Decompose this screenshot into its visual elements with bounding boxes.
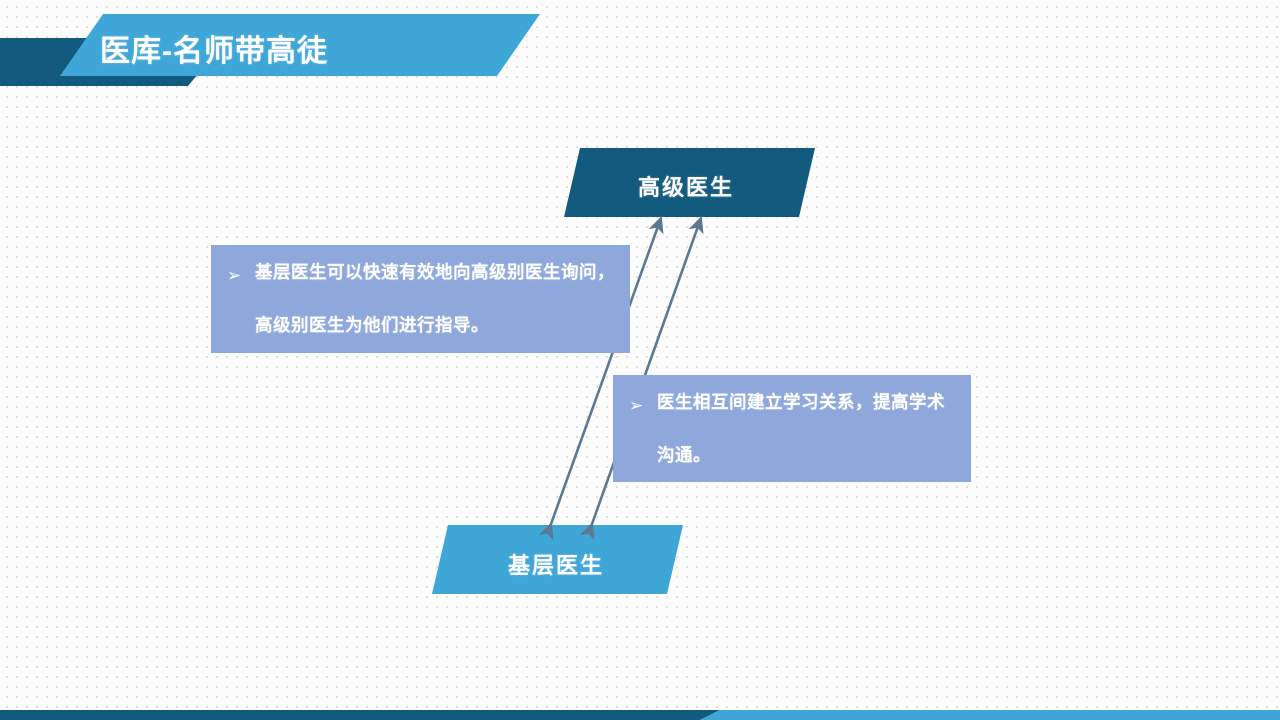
footer-right-bar (700, 710, 1280, 720)
slide-shapes-layer (0, 0, 1280, 720)
footer-left-bar (0, 710, 720, 720)
bullet-arrow-icon: ➢ (629, 397, 657, 414)
diagram-connectors-layer (0, 0, 1280, 720)
callout-2-text: 医生相互间建立学习关系，提高学术沟通。 (657, 376, 957, 482)
node-senior-doctor-label: 高级医生 (638, 170, 734, 202)
callout-basic-doctor-consult[interactable]: ➢ 基层医生可以快速有效地向高级别医生询问，高级别医生为他们进行指导。 (211, 245, 630, 353)
page-title: 医库-名师带高徒 (100, 26, 328, 70)
callout-mutual-learning[interactable]: ➢ 医生相互间建立学习关系，提高学术沟通。 (613, 375, 971, 482)
slide-canvas: 医库-名师带高徒 高级医生 基层医生 ➢ 基层医生可以快速有效地向高级别医生询问… (0, 0, 1280, 720)
node-primary-doctor-label: 基层医生 (508, 548, 604, 580)
bullet-arrow-icon: ➢ (227, 267, 255, 284)
callout-1-text: 基层医生可以快速有效地向高级别医生询问，高级别医生为他们进行指导。 (255, 246, 616, 352)
